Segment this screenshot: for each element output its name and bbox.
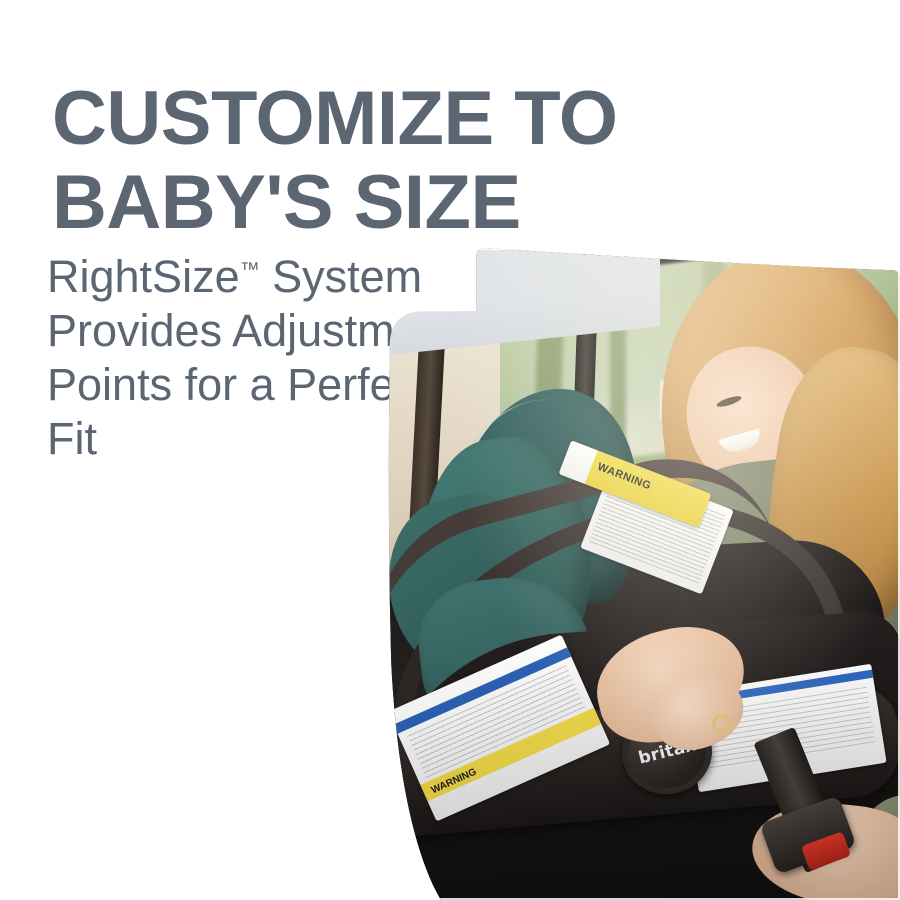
headline-line-2: BABY'S SIZE: [52, 160, 521, 245]
marketing-hero-canvas: CUSTOMIZE TOBABY'S SIZE RightSize™ Syste…: [0, 0, 900, 900]
trademark-symbol: ™: [240, 259, 260, 281]
headline-line-1: CUSTOMIZE TO: [52, 76, 617, 161]
subtitle-product-name: RightSize: [47, 251, 240, 302]
product-lifestyle-photo: WARNING WARNING britax: [360, 248, 900, 900]
photo-scene: WARNING WARNING britax: [360, 248, 900, 900]
page-title: CUSTOMIZE TOBABY'S SIZE: [52, 77, 692, 245]
